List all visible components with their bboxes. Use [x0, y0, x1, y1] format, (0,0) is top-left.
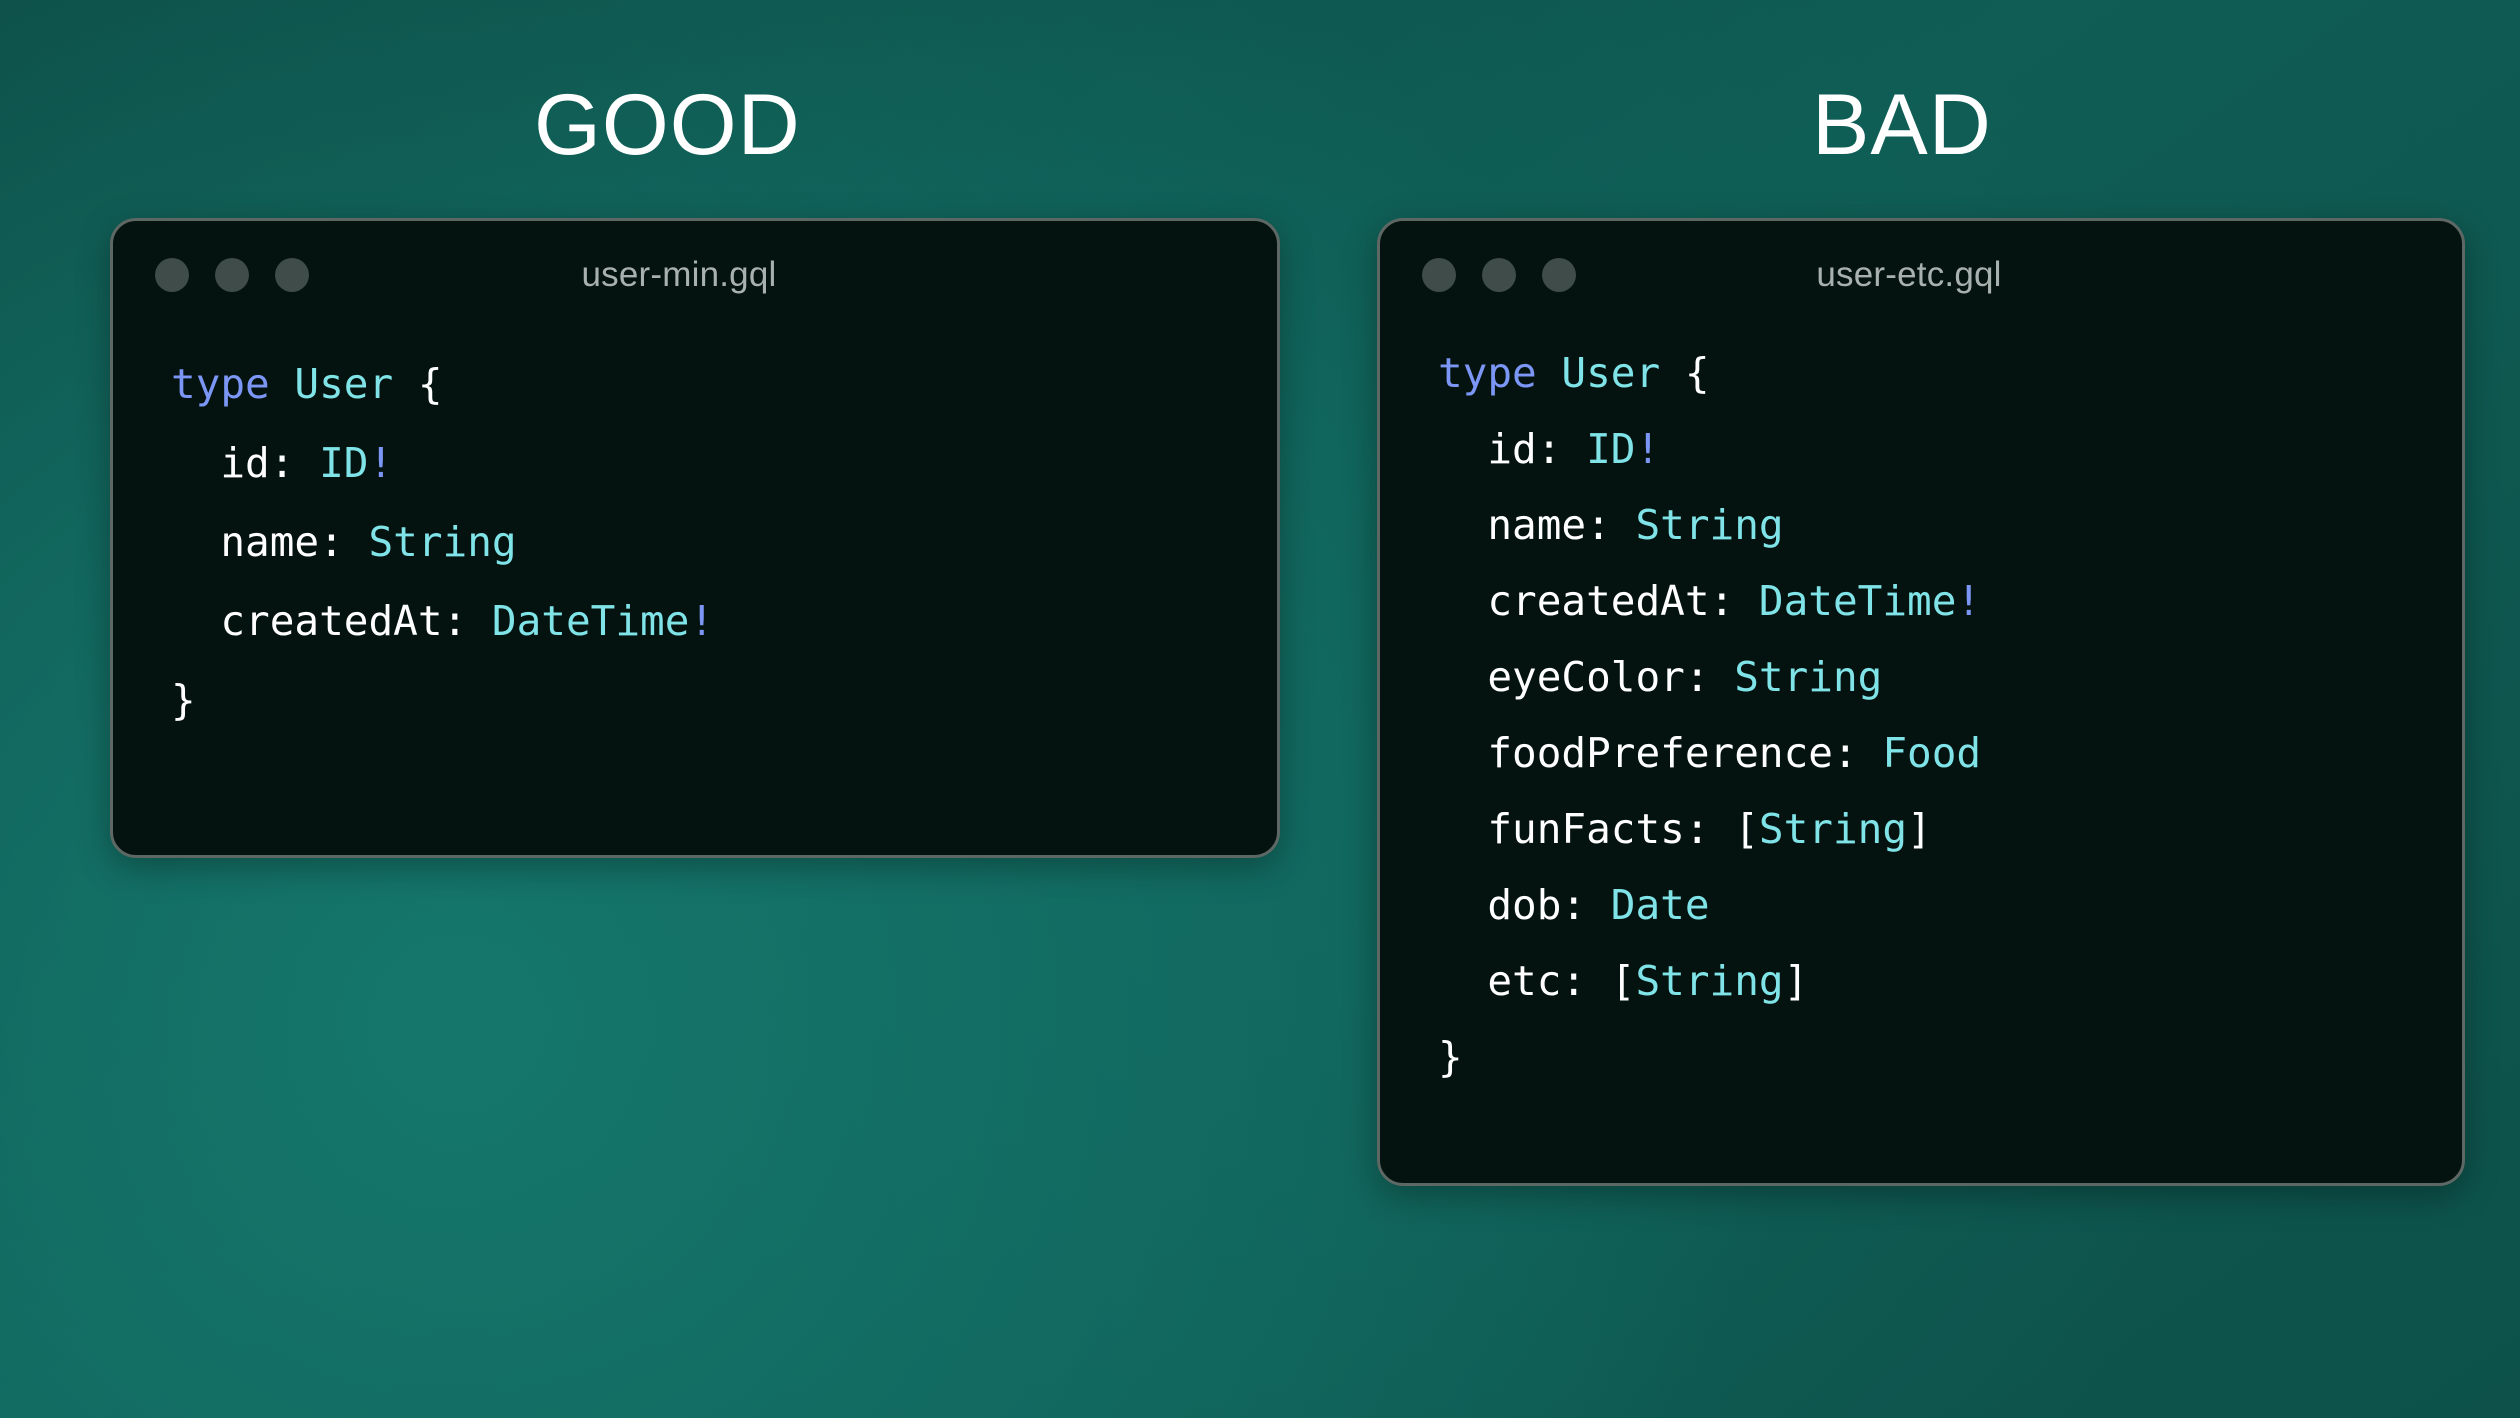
window-minimize-dot[interactable]: [1482, 258, 1516, 292]
code-token-punc: etc: [: [1438, 957, 1635, 1005]
code-token-punc: {: [418, 360, 443, 408]
code-token-punc: ]: [1907, 805, 1932, 853]
code-token-ty: User: [1561, 349, 1684, 397]
window-titlebar-good: user-min.gql: [113, 221, 1277, 329]
code-token-punc: id:: [171, 439, 319, 487]
code-token-punc: funFacts: [: [1438, 805, 1759, 853]
window-close-dot[interactable]: [155, 258, 189, 292]
code-token-ty: String: [1635, 957, 1783, 1005]
window-close-dot[interactable]: [1422, 258, 1456, 292]
code-token-kw: !: [1956, 577, 1981, 625]
code-token-punc: }: [1438, 1033, 1463, 1081]
code-token-punc: eyeColor:: [1438, 653, 1734, 701]
code-token-kw: !: [368, 439, 393, 487]
window-minimize-dot[interactable]: [215, 258, 249, 292]
code-line: createdAt: DateTime!: [171, 582, 1277, 661]
code-token-kw: type: [171, 360, 294, 408]
code-token-punc: createdAt:: [171, 597, 492, 645]
code-token-punc: {: [1685, 349, 1710, 397]
code-token-ty: String: [1759, 805, 1907, 853]
window-zoom-dot[interactable]: [275, 258, 309, 292]
code-token-punc: createdAt:: [1438, 577, 1759, 625]
code-line: }: [1438, 1019, 2462, 1095]
code-token-punc: foodPreference:: [1438, 729, 1882, 777]
code-token-kw: type: [1438, 349, 1561, 397]
code-token-ty: Food: [1882, 729, 1981, 777]
heading-bad: BAD: [1812, 82, 1992, 168]
code-token-ty: DateTime: [1759, 577, 1956, 625]
code-line: dob: Date: [1438, 867, 2462, 943]
code-token-punc: ]: [1784, 957, 1809, 1005]
code-token-ty: Date: [1611, 881, 1710, 929]
window-titlebar-bad: user-etc.gql: [1380, 221, 2462, 329]
code-block-bad: type User { id: ID! name: String created…: [1380, 329, 2462, 1095]
code-token-ty: ID: [1586, 425, 1635, 473]
code-token-ty: User: [294, 360, 417, 408]
code-token-ty: String: [368, 518, 516, 566]
code-line: type User {: [1438, 335, 2462, 411]
code-token-punc: }: [171, 676, 196, 724]
code-token-kw: !: [689, 597, 714, 645]
code-token-ty: DateTime: [492, 597, 689, 645]
code-line: name: String: [171, 503, 1277, 582]
code-token-punc: id:: [1438, 425, 1586, 473]
code-window-good: user-min.gql type User { id: ID! name: S…: [110, 218, 1280, 858]
code-token-punc: name:: [1438, 501, 1635, 549]
code-line: funFacts: [String]: [1438, 791, 2462, 867]
code-token-ty: ID: [319, 439, 368, 487]
code-token-kw: !: [1635, 425, 1660, 473]
code-line: eyeColor: String: [1438, 639, 2462, 715]
code-line: foodPreference: Food: [1438, 715, 2462, 791]
code-token-punc: dob:: [1438, 881, 1611, 929]
traffic-lights-bad: [1422, 258, 1576, 292]
code-token-punc: name:: [171, 518, 368, 566]
code-line: id: ID!: [1438, 411, 2462, 487]
code-block-good: type User { id: ID! name: String created…: [113, 329, 1277, 740]
code-line: name: String: [1438, 487, 2462, 563]
code-line: etc: [String]: [1438, 943, 2462, 1019]
code-line: createdAt: DateTime!: [1438, 563, 2462, 639]
heading-good: GOOD: [534, 82, 801, 168]
code-token-ty: String: [1635, 501, 1783, 549]
code-window-bad: user-etc.gql type User { id: ID! name: S…: [1377, 218, 2465, 1186]
window-zoom-dot[interactable]: [1542, 258, 1576, 292]
traffic-lights-good: [155, 258, 309, 292]
code-line: type User {: [171, 345, 1277, 424]
code-line: id: ID!: [171, 424, 1277, 503]
code-token-ty: String: [1734, 653, 1882, 701]
code-line: }: [171, 661, 1277, 740]
